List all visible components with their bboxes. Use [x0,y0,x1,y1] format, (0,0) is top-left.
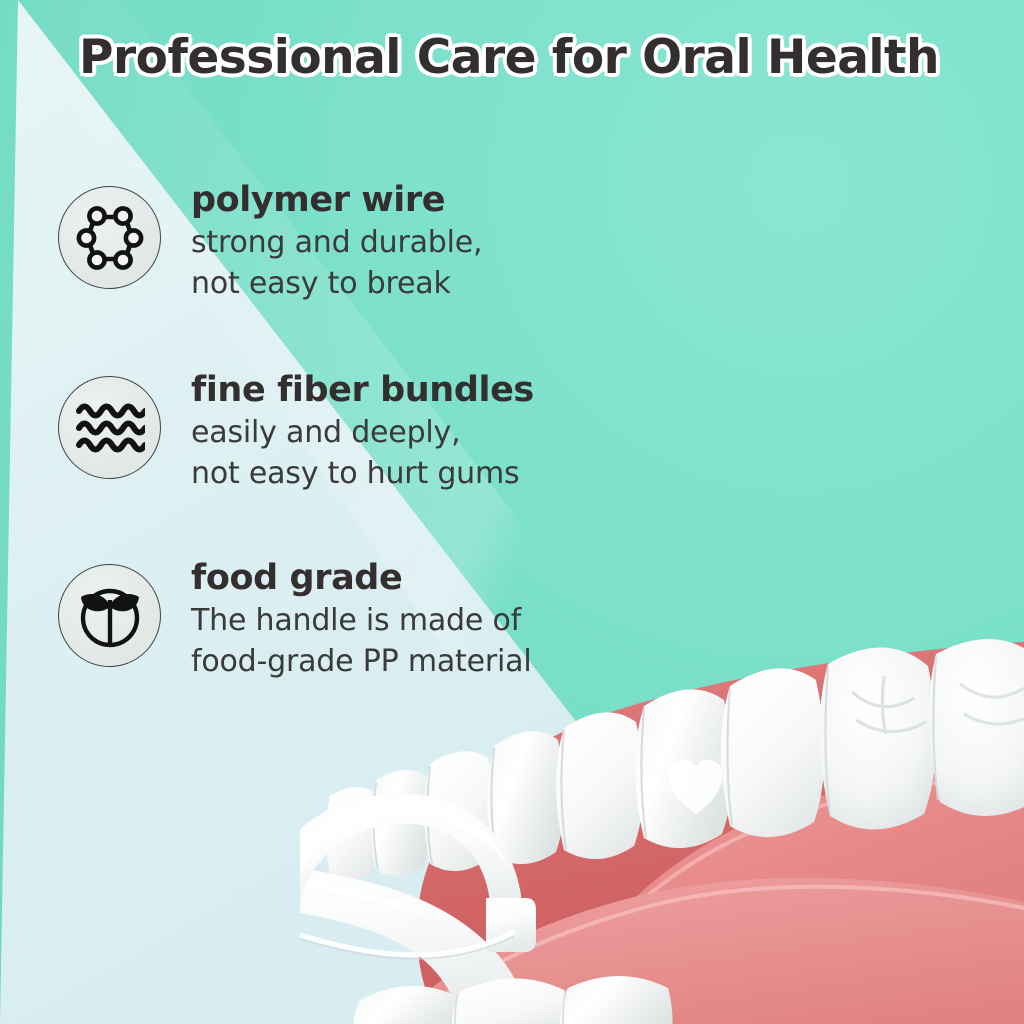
floss-pick-fork-tip [486,898,536,952]
feature-text-block: polymer wire strong and durable, not eas… [191,178,698,304]
feature-title: fine fiber bundles [191,368,698,412]
food-grade-sprout-icon [58,564,161,667]
feature-desc-line: easily and deeply, [191,412,698,453]
feature-text-block: food grade The handle is made of food-gr… [191,556,698,682]
tooth-premolar [721,668,825,837]
feature-desc-line: not easy to hurt gums [191,453,698,494]
poster-canvas: Professional Care for Oral Health [0,0,1024,1024]
page-title: Professional Care for Oral Health [0,30,1024,85]
feature-desc-line: strong and durable, [191,222,698,263]
feature-item-fine-fiber-bundles: fine fiber bundles easily and deeply, no… [58,368,698,554]
feature-text-block: fine fiber bundles easily and deeply, no… [191,368,698,494]
tooth-molar [819,647,936,829]
feature-desc-line: food-grade PP material [191,641,698,682]
feature-item-food-grade: food grade The handle is made of food-gr… [58,556,698,742]
feature-list: polymer wire strong and durable, not eas… [58,178,698,736]
feature-title: polymer wire [191,178,698,222]
tooth-molar [929,639,1024,816]
polymer-molecule-ring-icon [58,186,161,289]
lower-front-teeth-cluster [354,976,673,1024]
feature-desc-line: not easy to break [191,263,698,304]
feature-title: food grade [191,556,698,600]
feature-desc-line: The handle is made of [191,600,698,641]
feature-item-polymer-wire: polymer wire strong and durable, not eas… [58,178,698,364]
wavy-fibers-icon [58,376,161,479]
